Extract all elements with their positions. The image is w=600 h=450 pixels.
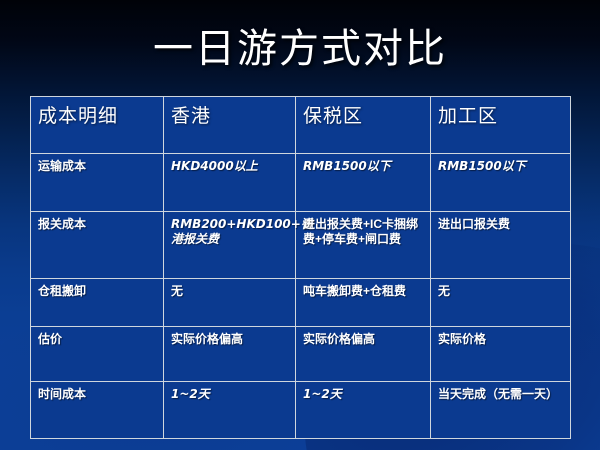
table-cell-bonded-zone: 1~2天 — [296, 382, 431, 439]
table-cell-processing-zone: RMB1500以下 — [431, 154, 571, 212]
table-header-cell-bonded-zone: 保税区 — [296, 97, 431, 154]
table-row: 估价 实际价格偏高 实际价格偏高 实际价格 — [31, 327, 571, 382]
table-row: 仓租搬卸 无 吨车搬卸费+仓租费 无 — [31, 279, 571, 327]
table-cell-processing-zone: 无 — [431, 279, 571, 327]
table-cell-processing-zone: 当天完成（无需一天） — [431, 382, 571, 439]
table-cell-bonded-zone: 实际价格偏高 — [296, 327, 431, 382]
table-cell-hongkong: HKD4000以上 — [164, 154, 296, 212]
table-cell-row-label: 时间成本 — [31, 382, 164, 439]
table-row: 报关成本 RMB200+HKD100+香港报关费 进出报关费+IC卡捆绑费+停车… — [31, 212, 571, 279]
table-cell-hongkong: 实际价格偏高 — [164, 327, 296, 382]
table-cell-row-label: 估价 — [31, 327, 164, 382]
table-cell-row-label: 报关成本 — [31, 212, 164, 279]
table-header-cell-processing-zone: 加工区 — [431, 97, 571, 154]
table-cell-processing-zone: 实际价格 — [431, 327, 571, 382]
table-header-cell-hongkong: 香港 — [164, 97, 296, 154]
table-cell-hongkong: 无 — [164, 279, 296, 327]
table-row: 运输成本 HKD4000以上 RMB1500以下 RMB1500以下 — [31, 154, 571, 212]
table-cell-bonded-zone: 吨车搬卸费+仓租费 — [296, 279, 431, 327]
table-cell-hongkong: 1~2天 — [164, 382, 296, 439]
table-header-row: 成本明细 香港 保税区 加工区 — [31, 97, 571, 154]
table-row: 时间成本 1~2天 1~2天 当天完成（无需一天） — [31, 382, 571, 439]
cost-comparison-table: 成本明细 香港 保税区 加工区 运输成本 HKD4000以上 RMB1500以下… — [30, 96, 571, 439]
table-cell-bonded-zone: 进出报关费+IC卡捆绑费+停车费+闸口费 — [296, 212, 431, 279]
table-header-cell-cost-item: 成本明细 — [31, 97, 164, 154]
table-cell-hongkong: RMB200+HKD100+香港报关费 — [164, 212, 296, 279]
slide-canvas: 一日游方式对比 成本明细 香港 保税区 加工区 运输成本 HKD4000以上 R… — [0, 0, 600, 450]
table-cell-row-label: 运输成本 — [31, 154, 164, 212]
slide-title: 一日游方式对比 — [0, 26, 600, 72]
table-cell-row-label: 仓租搬卸 — [31, 279, 164, 327]
table-cell-processing-zone: 进出口报关费 — [431, 212, 571, 279]
table-cell-bonded-zone: RMB1500以下 — [296, 154, 431, 212]
